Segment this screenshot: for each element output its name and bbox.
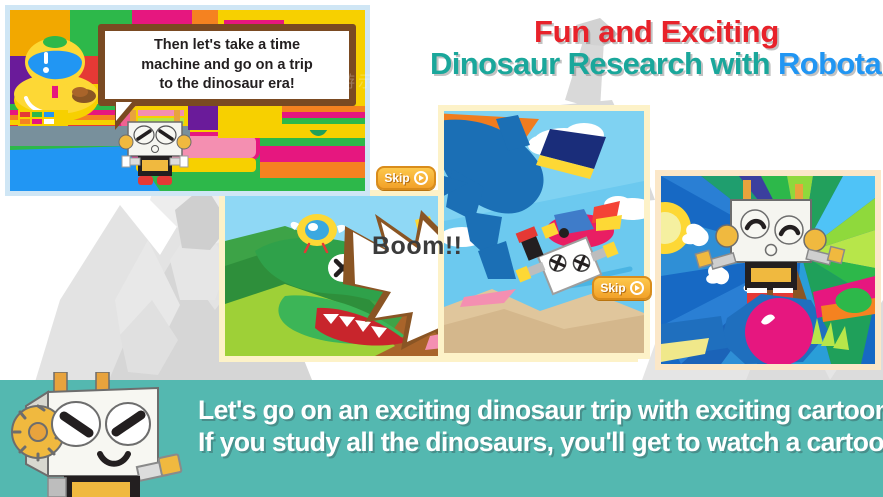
skip-button-label: Skip xyxy=(384,171,409,185)
skip-button-panel-3[interactable]: Skip xyxy=(592,276,652,300)
headline: Fun and Exciting Dinosaur Research with … xyxy=(430,16,883,79)
play-icon xyxy=(414,171,428,185)
panel-pterodactyl-sky-art xyxy=(444,111,644,353)
panel-pterodactyl-sky[interactable] xyxy=(438,105,650,359)
speech-line-2: machine and go on a trip xyxy=(141,56,313,75)
panel-happy-robot[interactable] xyxy=(655,170,881,370)
banner-line-1: Let's go on an exciting dinosaur trip wi… xyxy=(198,394,878,426)
banner-line-2: If you study all the dinosaurs, you'll g… xyxy=(198,426,878,458)
skip-button-label: Skip xyxy=(600,281,625,295)
panel-room-scene[interactable]: Then let's take a time machine and go on… xyxy=(5,5,370,196)
headline-line-2-primary: Dinosaur Research with xyxy=(430,46,778,81)
speech-bubble-tail-inner xyxy=(116,102,132,121)
speech-bubble: Then let's take a time machine and go on… xyxy=(98,24,356,106)
sfx-boom-text: Boom!! xyxy=(372,232,462,261)
speech-bubble-text: Then let's take a time machine and go on… xyxy=(105,31,349,99)
play-icon xyxy=(630,281,644,295)
bottom-banner-text: Let's go on an exciting dinosaur trip wi… xyxy=(198,394,878,459)
skip-button-panel-1[interactable]: Skip xyxy=(376,166,436,190)
promo-screenshot-stage: Then let's take a time machine and go on… xyxy=(0,0,883,497)
headline-line-2-brand: Robota! xyxy=(778,46,883,81)
speech-line-1: Then let's take a time xyxy=(154,36,300,55)
headline-line-1: Fun and Exciting xyxy=(430,16,883,48)
robota-character xyxy=(8,372,198,497)
panel-happy-robot-art xyxy=(661,176,875,364)
speech-line-3: to the dinosaur era! xyxy=(159,75,294,94)
headline-line-2: Dinosaur Research with Robota! xyxy=(430,48,883,80)
